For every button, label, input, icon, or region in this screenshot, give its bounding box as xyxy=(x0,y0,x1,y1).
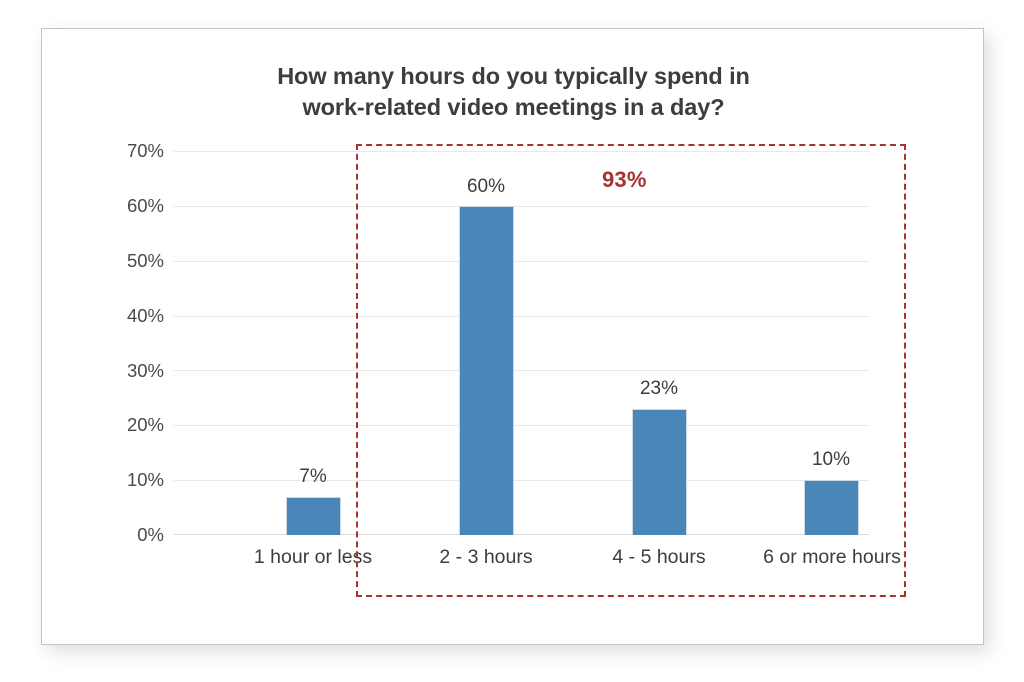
bar-label-4-5-hours: 23% xyxy=(604,379,714,398)
bar-1-hour-or-less[interactable] xyxy=(286,497,341,535)
x-category-label-2: 2 - 3 hours xyxy=(386,545,586,569)
gridline-50 xyxy=(174,261,869,262)
x-category-label-3: 4 - 5 hours xyxy=(559,545,759,569)
gridline-40 xyxy=(174,316,869,317)
plot-area: 7% 60% 23% 10% xyxy=(174,151,869,535)
y-tick-label-10: 10% xyxy=(94,471,164,490)
chart-card: How many hours do you typically spend in… xyxy=(41,28,984,645)
x-category-label-1: 1 hour or less xyxy=(213,545,413,569)
y-tick-label-60: 60% xyxy=(94,197,164,216)
y-tick-label-70: 70% xyxy=(94,142,164,161)
bar-label-1-hour-or-less: 7% xyxy=(258,467,368,486)
y-tick-label-40: 40% xyxy=(94,307,164,326)
y-tick-label-30: 30% xyxy=(94,362,164,381)
gridline-30 xyxy=(174,370,869,371)
bar-6-or-more-hours[interactable] xyxy=(804,480,859,535)
bar-4-5-hours[interactable] xyxy=(632,409,687,535)
bar-2-3-hours[interactable] xyxy=(459,206,514,535)
y-tick-label-20: 20% xyxy=(94,416,164,435)
page-background: How many hours do you typically spend in… xyxy=(0,0,1024,682)
chart-title: How many hours do you typically spend in… xyxy=(42,61,985,123)
chart-title-line-2: work-related video meetings in a day? xyxy=(42,92,985,123)
gridline-60 xyxy=(174,206,869,207)
y-tick-label-50: 50% xyxy=(94,252,164,271)
bar-label-6-or-more-hours: 10% xyxy=(776,450,886,469)
highlight-total-label: 93% xyxy=(602,169,647,191)
gridline-70 xyxy=(174,151,869,152)
y-tick-label-0: 0% xyxy=(94,526,164,545)
x-category-label-4: 6 or more hours xyxy=(732,545,932,569)
x-axis: 1 hour or less 2 - 3 hours 4 - 5 hours 6… xyxy=(174,545,869,585)
bar-label-2-3-hours: 60% xyxy=(431,177,541,196)
chart-title-line-1: How many hours do you typically spend in xyxy=(42,61,985,92)
gridline-baseline-0 xyxy=(174,534,869,535)
y-axis: 70% 60% 50% 40% 30% 20% 10% 0% xyxy=(86,151,164,535)
gridline-20 xyxy=(174,425,869,426)
